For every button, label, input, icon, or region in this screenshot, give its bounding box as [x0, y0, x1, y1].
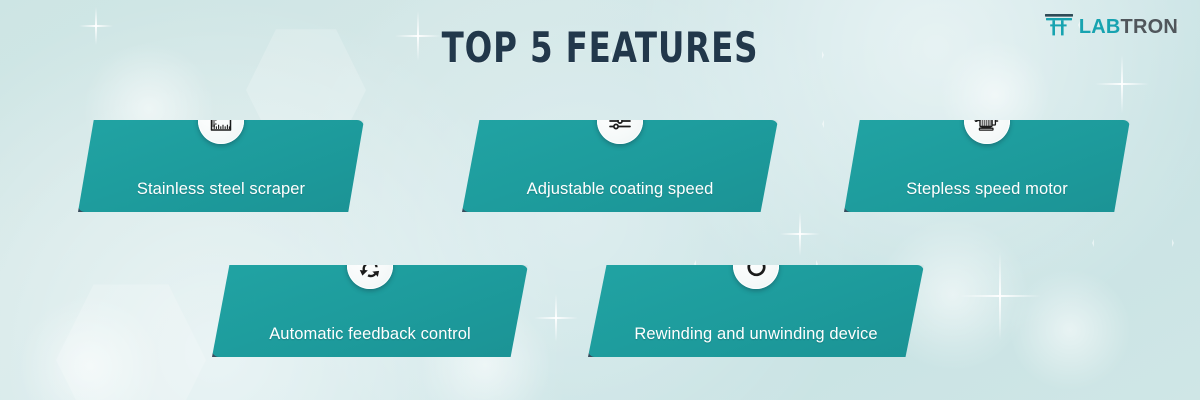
logo-text-tron: TRON: [1121, 16, 1178, 38]
feature-card-rewinding-unwinding-device[interactable]: Rewinding and unwinding device: [588, 265, 924, 357]
sparkle-glint: [959, 252, 1041, 340]
sparkle-glint: [534, 294, 578, 342]
features-infographic: LABTRON TOP 5 FEATURES: [0, 0, 1200, 400]
feature-label: Rewinding and unwinding device: [588, 325, 924, 343]
bokeh-glow: [20, 296, 160, 400]
feature-card-adjustable-coating-speed[interactable]: Adjustable coating speed: [462, 120, 778, 212]
scraper-gauge-icon: [198, 98, 244, 144]
feature-label: Adjustable coating speed: [462, 180, 778, 198]
page-title: TOP 5 FEATURES: [84, 26, 1116, 70]
feature-label: Stepless speed motor: [844, 180, 1130, 198]
feature-label: Stainless steel scraper: [78, 180, 364, 198]
feature-card-stainless-steel-scraper[interactable]: Stainless steel scraper: [78, 120, 364, 212]
bokeh-glow: [1010, 270, 1130, 390]
hexagon-filled: [56, 278, 206, 400]
feature-card-stepless-speed-motor[interactable]: Stepless speed motor: [844, 120, 1130, 212]
feature-label: Automatic feedback control: [212, 325, 528, 343]
electric-motor-icon: [964, 98, 1010, 144]
feature-card-automatic-feedback-control[interactable]: Automatic feedback control: [212, 265, 528, 357]
recycle-loop-icon: [347, 243, 393, 289]
rotate-refresh-icon: [733, 243, 779, 289]
sparkle-glint: [780, 212, 820, 256]
sliders-icon: [597, 98, 643, 144]
